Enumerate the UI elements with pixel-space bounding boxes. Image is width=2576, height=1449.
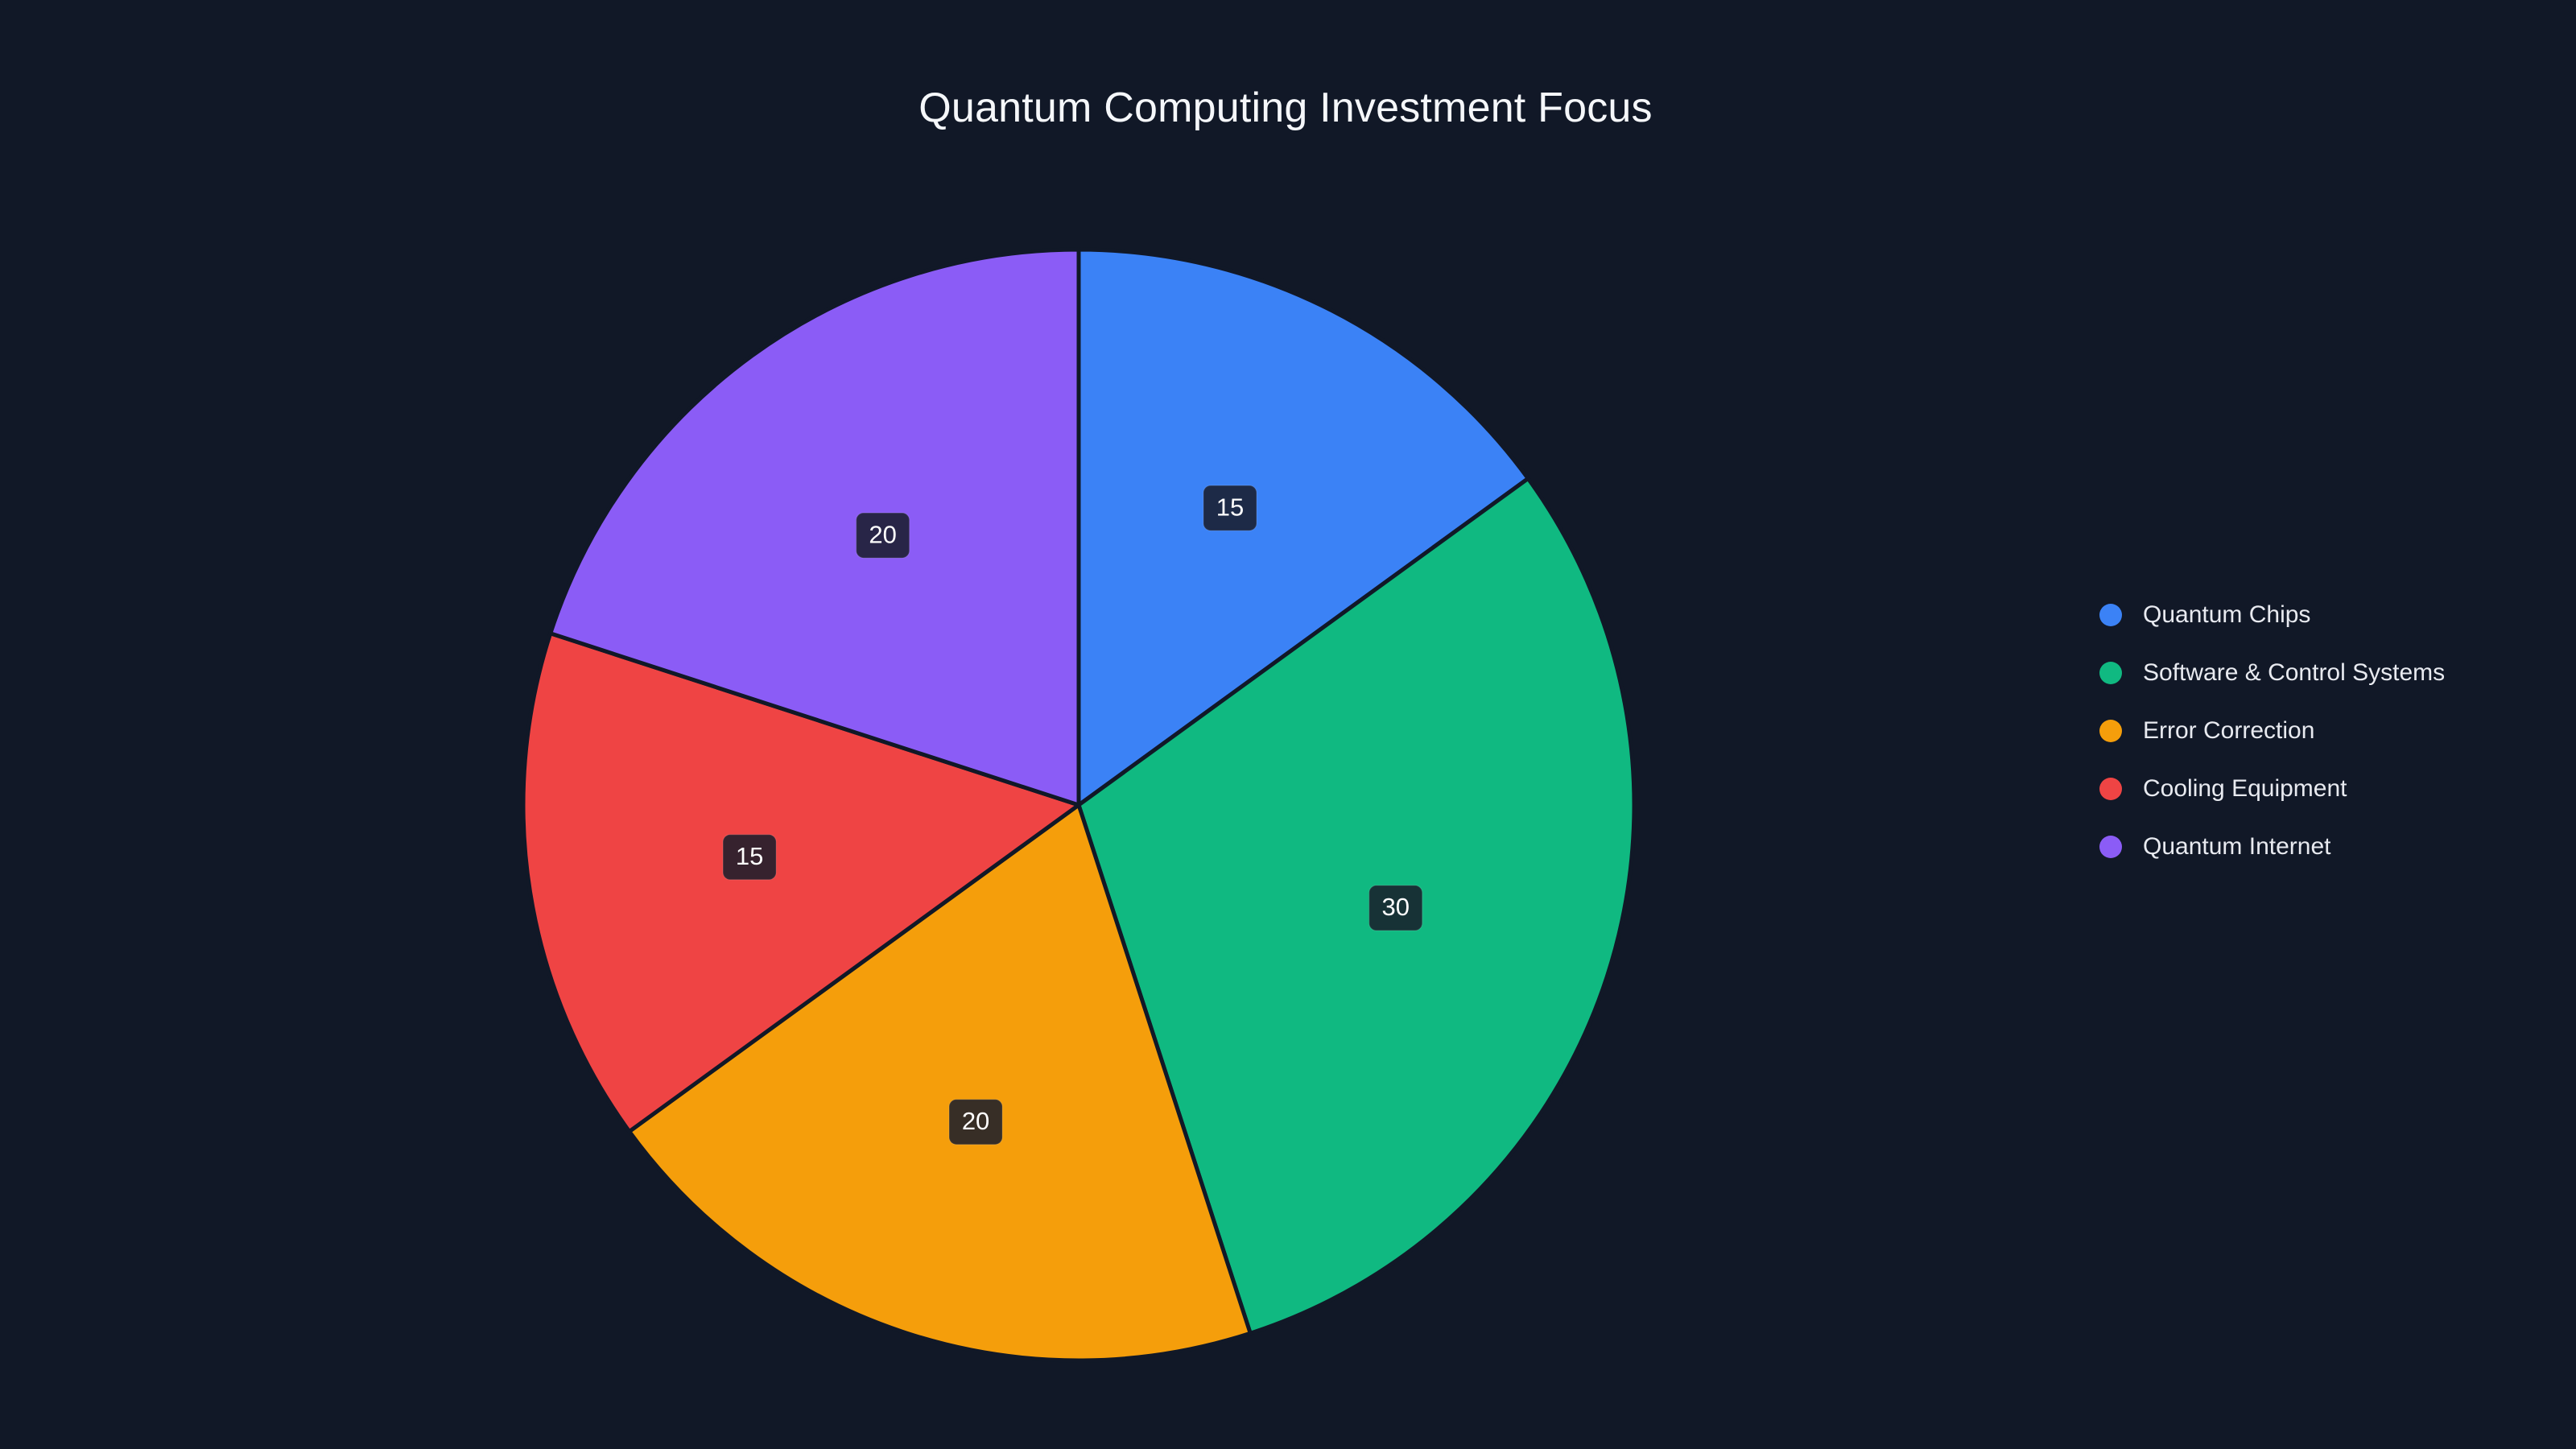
pie-slice-label-value: 30: [1381, 893, 1409, 921]
legend-item[interactable]: Quantum Chips: [2099, 586, 2550, 644]
pie-slice-label: 20: [949, 1100, 1002, 1145]
legend-item[interactable]: Cooling Equipment: [2099, 760, 2550, 818]
legend-color-swatch-icon: [2099, 836, 2122, 858]
legend-item-label: Cooling Equipment: [2143, 777, 2347, 801]
legend-color-swatch-icon: [2099, 662, 2122, 684]
pie-slice-label-value: 20: [962, 1107, 989, 1135]
pie-slice-label-value: 20: [869, 520, 896, 548]
legend-item[interactable]: Error Correction: [2099, 702, 2550, 760]
legend-item-label: Software & Control Systems: [2143, 661, 2445, 685]
pie-slice-label: 20: [857, 513, 910, 558]
legend-item-label: Quantum Chips: [2143, 603, 2310, 627]
pie-slice-label-value: 15: [1216, 493, 1244, 521]
pie-slice-label: 30: [1369, 885, 1422, 931]
legend-item[interactable]: Quantum Internet: [2099, 818, 2550, 876]
pie-chart-figure: Quantum Computing Investment Focus 15302…: [0, 0, 2576, 1449]
chart-legend: Quantum ChipsSoftware & Control SystemsE…: [2099, 586, 2550, 876]
legend-color-swatch-icon: [2099, 604, 2122, 626]
pie-slice-label: 15: [1203, 485, 1257, 530]
legend-color-swatch-icon: [2099, 778, 2122, 800]
pie-slice-label: 15: [723, 835, 776, 880]
pie-slice-label-value: 15: [736, 842, 763, 870]
pie-slices-group: [523, 250, 1634, 1360]
legend-item-label: Quantum Internet: [2143, 835, 2330, 859]
legend-item-label: Error Correction: [2143, 719, 2314, 743]
legend-color-swatch-icon: [2099, 720, 2122, 742]
legend-item[interactable]: Software & Control Systems: [2099, 644, 2550, 702]
